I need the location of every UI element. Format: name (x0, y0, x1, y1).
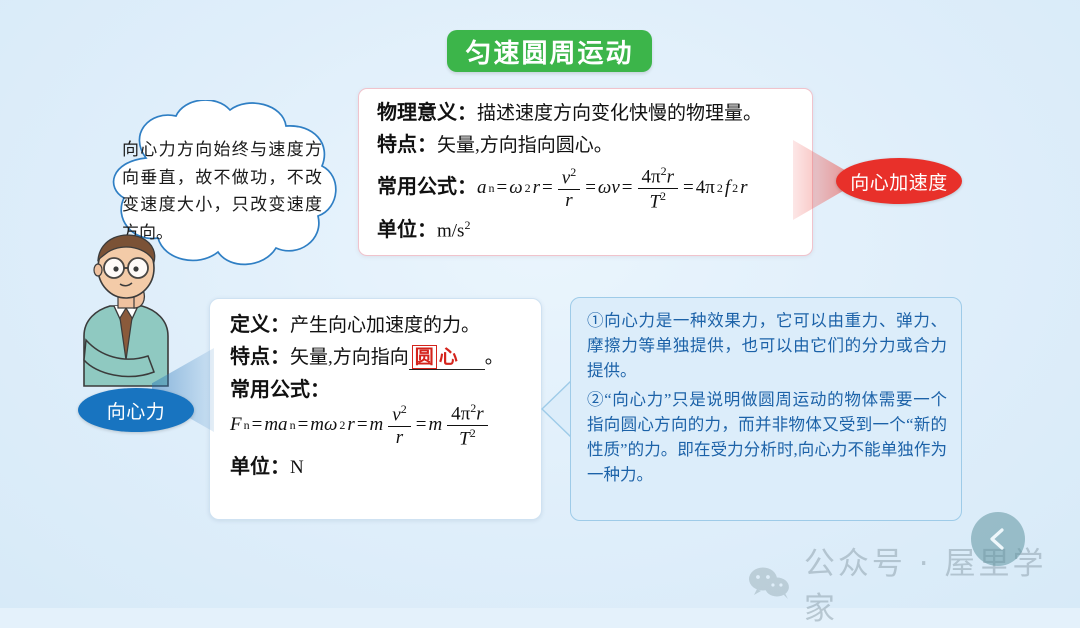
force-label-text: 向心力 (107, 397, 166, 424)
acceleration-row-formula: 常用公式： an = ω2r = v2 r = ωv = 4π2r T2 = 4… (377, 165, 798, 213)
acceleration-label-text: 向心加速度 (850, 168, 948, 195)
wechat-icon (748, 566, 792, 600)
force-formula: Fn = man = mω2r = m v2 r = m 4π2r T2 (230, 402, 491, 450)
force-unit-label: 单位： (230, 455, 290, 477)
force-row-feature: 特点： 矢量,方向指向 圆心 。 (230, 345, 531, 370)
force-feature-suffix: 。 (485, 348, 504, 369)
force-definition-label: 定义： (230, 313, 290, 335)
acceleration-meaning-label: 物理意义： (377, 101, 477, 123)
force-row-definition: 定义： 产生向心加速度的力。 (230, 313, 531, 337)
professor-illustration (62, 228, 190, 388)
acceleration-unit-label: 单位： (377, 218, 437, 240)
acceleration-row-meaning: 物理意义： 描述速度方向变化快慢的物理量。 (377, 101, 798, 125)
force-definition-value: 产生向心加速度的力。 (290, 316, 480, 337)
force-feature-label: 特点： (230, 345, 290, 367)
note-item-2: ②“向心力”只是说明做圆周运动的物体需要一个指向圆心方向的力，而并非物体又受到一… (587, 387, 947, 487)
force-feature-blank: 圆心 (409, 347, 485, 370)
force-feature-value: 矢量,方向指向 (290, 348, 409, 369)
back-button[interactable] (971, 512, 1025, 566)
force-label-pill: 向心力 (78, 388, 194, 432)
acceleration-formula: an = ω2r = v2 r = ωv = 4π2r T2 = 4π2f2r (477, 165, 748, 213)
force-card: 定义： 产生向心加速度的力。 特点： 矢量,方向指向 圆心 。 常用公式： Fn… (209, 298, 542, 520)
slide-canvas: 匀速圆周运动 向心力方向始终与速度方向垂直，故不做功，不改变速度大小，只改变速度… (0, 0, 1080, 608)
acceleration-feature-label: 特点： (377, 133, 437, 155)
page-title-badge: 匀速圆周运动 (447, 30, 652, 72)
force-feature-highlight-1: 圆 (412, 345, 437, 369)
force-row-formula-label: 常用公式： (230, 378, 531, 400)
watermark-text: 公众号 · 屋里学家 (804, 538, 1080, 628)
chevron-left-icon (985, 526, 1011, 552)
acceleration-label-pill: 向心加速度 (836, 158, 962, 204)
watermark: 公众号 · 屋里学家 (748, 538, 1080, 628)
page-title: 匀速圆周运动 (465, 33, 633, 70)
force-feature-highlight-2: 心 (439, 346, 458, 368)
acceleration-feature-value: 矢量,方向指向圆心。 (437, 136, 613, 157)
acceleration-unit-value: m/s2 (437, 219, 470, 242)
acceleration-card: 物理意义： 描述速度方向变化快慢的物理量。 特点： 矢量,方向指向圆心。 常用公… (358, 88, 813, 256)
acceleration-row-unit: 单位： m/s2 (377, 218, 798, 242)
note-item-1: ①向心力是一种效果力，它可以由重力、弹力、摩擦力等单独提供，也可以由它们的分力或… (587, 308, 947, 383)
acceleration-meaning-value: 描述速度方向变化快慢的物理量。 (477, 104, 762, 125)
acceleration-row-feature: 特点： 矢量,方向指向圆心。 (377, 133, 798, 157)
notes-callout-tail (540, 378, 572, 440)
acceleration-formula-label: 常用公式： (377, 175, 477, 197)
force-formula-label: 常用公式： (230, 378, 330, 400)
force-row-formula: Fn = man = mω2r = m v2 r = m 4π2r T2 (230, 402, 531, 450)
force-unit-value: N (290, 458, 304, 479)
notes-card: ①向心力是一种效果力，它可以由重力、弹力、摩擦力等单独提供，也可以由它们的分力或… (570, 297, 962, 521)
force-row-unit: 单位： N (230, 455, 531, 479)
